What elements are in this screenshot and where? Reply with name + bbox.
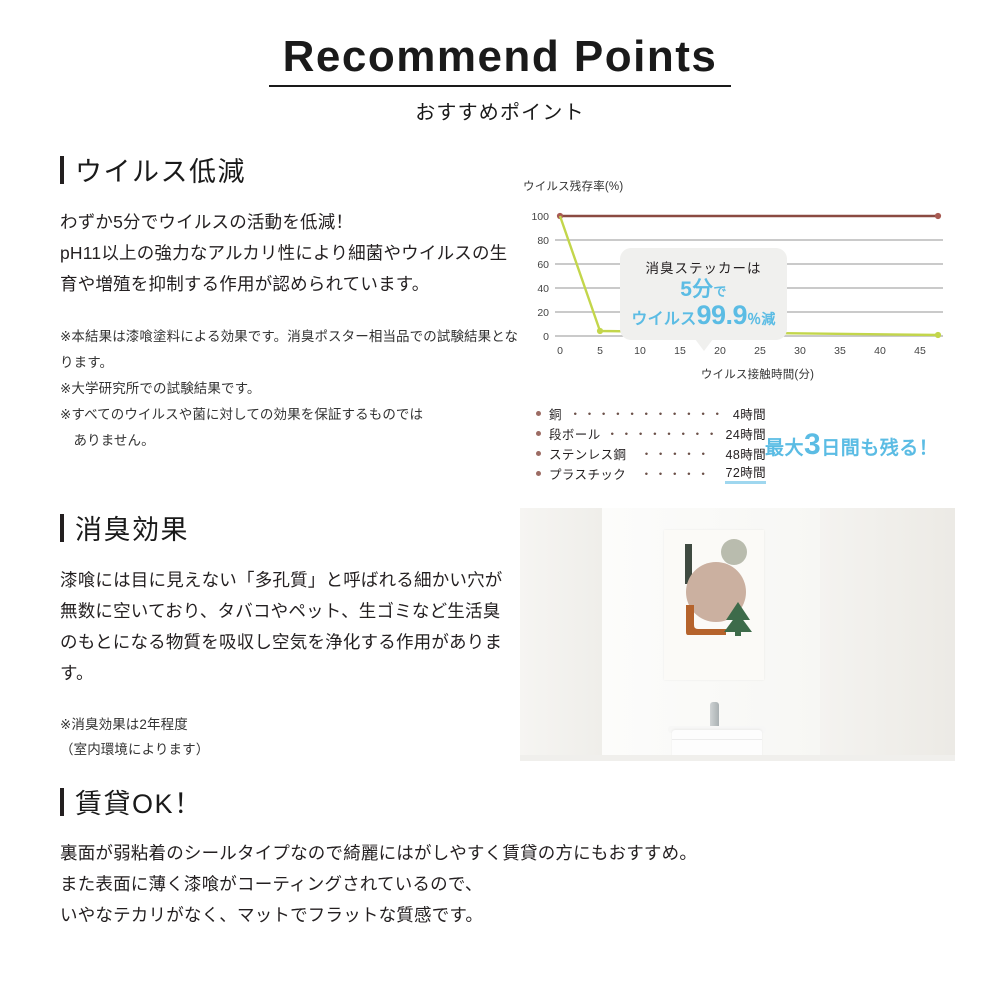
legend-highlight-callout: 最大3日間も残る！ <box>765 428 938 462</box>
svg-text:20: 20 <box>714 345 726 357</box>
legend-leader-dots: ・・・・・ <box>631 445 720 462</box>
legend-item: ステンレス鋼 ・・・・・ 48時間 <box>536 443 766 463</box>
room-interior-photo <box>520 508 955 761</box>
note-virus-3-cont: ありません。 <box>60 428 520 454</box>
page-title-en: Recommend Points <box>269 32 732 87</box>
section-heading-deodor-label: 消臭効果 <box>75 508 189 547</box>
section-rental-body: 裏面が弱粘着のシールタイプなので綺麗にはがしやすく賃貸の方にもおすすめ。 また表… <box>60 838 840 931</box>
legend-leader-dots: ・・・・・・・・ <box>606 425 721 442</box>
photo-floor <box>520 755 955 761</box>
legend-item-value: 24時間 <box>725 424 766 443</box>
callout-line-1: 消臭ステッカーは <box>626 257 781 277</box>
svg-text:60: 60 <box>537 259 549 271</box>
legend-item-value: 48時間 <box>725 444 766 463</box>
callout-percent-unit: ％減 <box>747 311 776 327</box>
virus-survival-chart: ウイルス残存率(%) 100 80 60 40 20 0 <box>523 178 968 382</box>
svg-text:30: 30 <box>794 345 806 357</box>
section-virus-reduction: ウイルス低減 わずか5分でウイルスの活動を低減！ pH11以上の強力なアルカリ性… <box>60 150 520 454</box>
svg-text:35: 35 <box>834 345 846 357</box>
chart-plot-area: 100 80 60 40 20 0 0 5 10 15 20 25 <box>523 202 968 362</box>
legend-bullet-icon <box>536 431 541 436</box>
section-deodor-body: 漆喰には目に見えない「多孔質」と呼ばれる細かい穴が無数に空いており、タバコやペッ… <box>60 565 515 690</box>
heading-bar-icon <box>60 514 64 542</box>
legend-item: 段ボール ・・・・・・・・ 24時間 <box>536 423 766 443</box>
callout-minutes-suffix: で <box>713 284 726 299</box>
chart-point-product-end <box>935 332 941 338</box>
svg-text:45: 45 <box>914 345 926 357</box>
legend-item-name: ステンレス鋼 <box>549 444 626 463</box>
legend-bullet-icon <box>536 411 541 416</box>
section-deodorizing-effect: 消臭効果 漆喰には目に見えない「多孔質」と呼ばれる細かい穴が無数に空いており、タ… <box>60 508 515 763</box>
legend-item-value-highlighted: 72時間 <box>725 462 766 484</box>
chart-x-axis-label: ウイルス接触時間(分) <box>523 366 968 382</box>
chart-callout: 消臭ステッカーは 5分で ウイルス99.9％減 <box>620 248 787 340</box>
highlight-suffix: 日間も残る！ <box>821 438 938 459</box>
chart-y-axis-label: ウイルス残存率(%) <box>523 178 968 194</box>
photo-wall-left <box>520 508 602 761</box>
legend-leader-dots: ・・・・・ <box>631 465 720 482</box>
legend-item-name: プラスチック <box>549 464 626 483</box>
callout-virus-word: ウイルス <box>631 311 696 328</box>
legend-item-value: 4時間 <box>733 404 766 423</box>
chart-point-product-5min <box>597 328 603 334</box>
chart-point-control-end <box>935 213 941 219</box>
callout-line-2: 5分で <box>626 279 781 301</box>
section-virus-notes: ※本結果は漆喰塗料による効果です。消臭ポスター相当品での試験結果となります。 ※… <box>60 324 520 454</box>
legend-bullet-icon <box>536 451 541 456</box>
section-rental-ok: 賃貸OK！ 裏面が弱粘着のシールタイプなので綺麗にはがしやすく賃貸の方にもおすす… <box>60 782 840 931</box>
highlight-number: 3 <box>804 428 821 461</box>
section-virus-body: わずか5分でウイルスの活動を低減！ pH11以上の強力なアルカリ性により細菌やウ… <box>60 207 520 300</box>
section-heading-rental: 賃貸OK！ <box>60 782 840 821</box>
callout-percent-value: 99.9 <box>697 300 748 330</box>
legend-item-name: 銅 <box>549 404 562 423</box>
legend-leader-dots: ・・・・・・・・・・・ <box>567 405 728 422</box>
photo-wall-right <box>820 508 955 761</box>
section-heading-deodor: 消臭効果 <box>60 508 515 547</box>
legend-item-name: 段ボール <box>549 424 601 443</box>
callout-minutes: 5分 <box>680 278 713 301</box>
svg-text:20: 20 <box>537 307 549 319</box>
poster-circle-shape <box>721 539 747 565</box>
svg-text:80: 80 <box>537 235 549 247</box>
heading-bar-icon <box>60 156 64 184</box>
legend-bullet-icon <box>536 471 541 476</box>
poster-artwork <box>664 530 764 680</box>
chart-x-ticks: 0 5 10 15 20 25 30 35 40 45 <box>557 345 926 357</box>
surface-survival-legend: 銅 ・・・・・・・・・・・ 4時間 段ボール ・・・・・・・・ 24時間 ステン… <box>536 403 766 483</box>
svg-text:5: 5 <box>597 345 603 357</box>
svg-text:10: 10 <box>634 345 646 357</box>
svg-text:40: 40 <box>874 345 886 357</box>
legend-item: 銅 ・・・・・・・・・・・ 4時間 <box>536 403 766 423</box>
section-heading-virus-label: ウイルス低減 <box>75 150 246 189</box>
svg-text:40: 40 <box>537 283 549 295</box>
note-virus-3: ※すべてのウイルスや菌に対しての効果を保証するものでは <box>60 402 520 428</box>
svg-text:25: 25 <box>754 345 766 357</box>
callout-line-3: ウイルス99.9％減 <box>626 301 781 330</box>
svg-text:100: 100 <box>531 211 549 223</box>
section-heading-rental-label: 賃貸OK！ <box>75 782 203 821</box>
page-title-ja: おすすめポイント <box>0 96 1000 125</box>
chart-y-ticks: 100 80 60 40 20 0 <box>531 211 549 343</box>
highlight-prefix: 最大 <box>765 438 804 459</box>
section-heading-virus: ウイルス低減 <box>60 150 520 189</box>
heading-bar-icon <box>60 788 64 816</box>
svg-text:0: 0 <box>543 331 549 343</box>
note-virus-2: ※大学研究所での試験結果です。 <box>60 376 520 402</box>
note-virus-1: ※本結果は漆喰塗料による効果です。消臭ポスター相当品での試験結果となります。 <box>60 324 520 376</box>
note-deodor-1: ※消臭効果は2年程度 <box>60 712 515 738</box>
note-deodor-2: （室内環境によります） <box>60 737 515 763</box>
legend-item: プラスチック ・・・・・ 72時間 <box>536 463 766 483</box>
abstract-art-poster <box>664 530 764 680</box>
svg-text:0: 0 <box>557 345 563 357</box>
section-deodor-notes: ※消臭効果は2年程度 （室内環境によります） <box>60 712 515 764</box>
svg-text:15: 15 <box>674 345 686 357</box>
page-header: Recommend Points おすすめポイント <box>0 32 1000 125</box>
